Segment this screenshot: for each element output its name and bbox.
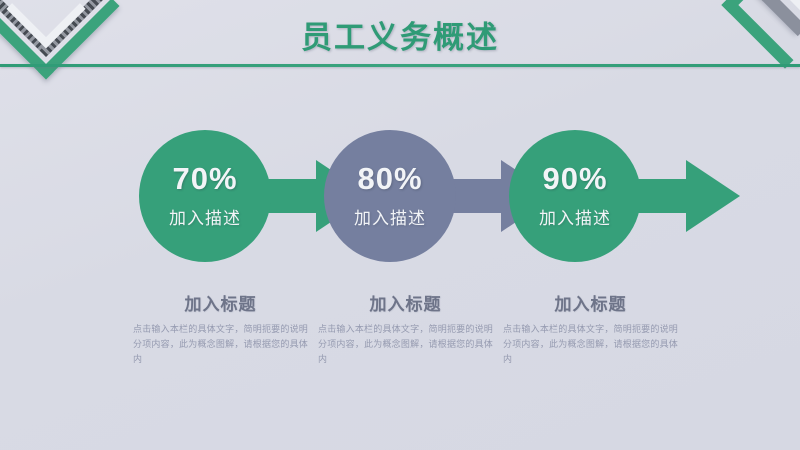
step-node-3[interactable]: 90% 加入描述: [509, 130, 641, 262]
caption-column-3: 加入标题 点击输入本栏的具体文字，简明扼要的说明分项内容，此为概念图解，请根据您…: [503, 290, 678, 367]
step-percent: 80%: [357, 163, 422, 194]
slide-canvas: 员工义务概述 70% 加入描述 80% 加入描述: [0, 0, 800, 450]
process-diagram: 70% 加入描述 80% 加入描述 90% 加入描述: [0, 0, 800, 450]
step-description: 加入描述: [354, 204, 426, 229]
step-description: 加入描述: [539, 204, 611, 229]
step-percent: 70%: [172, 163, 237, 194]
caption-title: 加入标题: [503, 290, 678, 315]
step-node-1[interactable]: 70% 加入描述: [139, 130, 271, 262]
caption-column-1: 加入标题 点击输入本栏的具体文字，简明扼要的说明分项内容，此为概念图解，请根据您…: [133, 290, 308, 367]
caption-body: 点击输入本栏的具体文字，简明扼要的说明分项内容，此为概念图解，请根据您的具体内: [133, 322, 308, 367]
caption-title: 加入标题: [133, 290, 308, 315]
step-description: 加入描述: [169, 204, 241, 229]
caption-body: 点击输入本栏的具体文字，简明扼要的说明分项内容，此为概念图解，请根据您的具体内: [318, 322, 493, 367]
caption-body: 点击输入本栏的具体文字，简明扼要的说明分项内容，此为概念图解，请根据您的具体内: [503, 322, 678, 367]
step-node-2[interactable]: 80% 加入描述: [324, 130, 456, 262]
caption-title: 加入标题: [318, 290, 493, 315]
step-percent: 90%: [542, 163, 607, 194]
caption-column-2: 加入标题 点击输入本栏的具体文字，简明扼要的说明分项内容，此为概念图解，请根据您…: [318, 290, 493, 367]
